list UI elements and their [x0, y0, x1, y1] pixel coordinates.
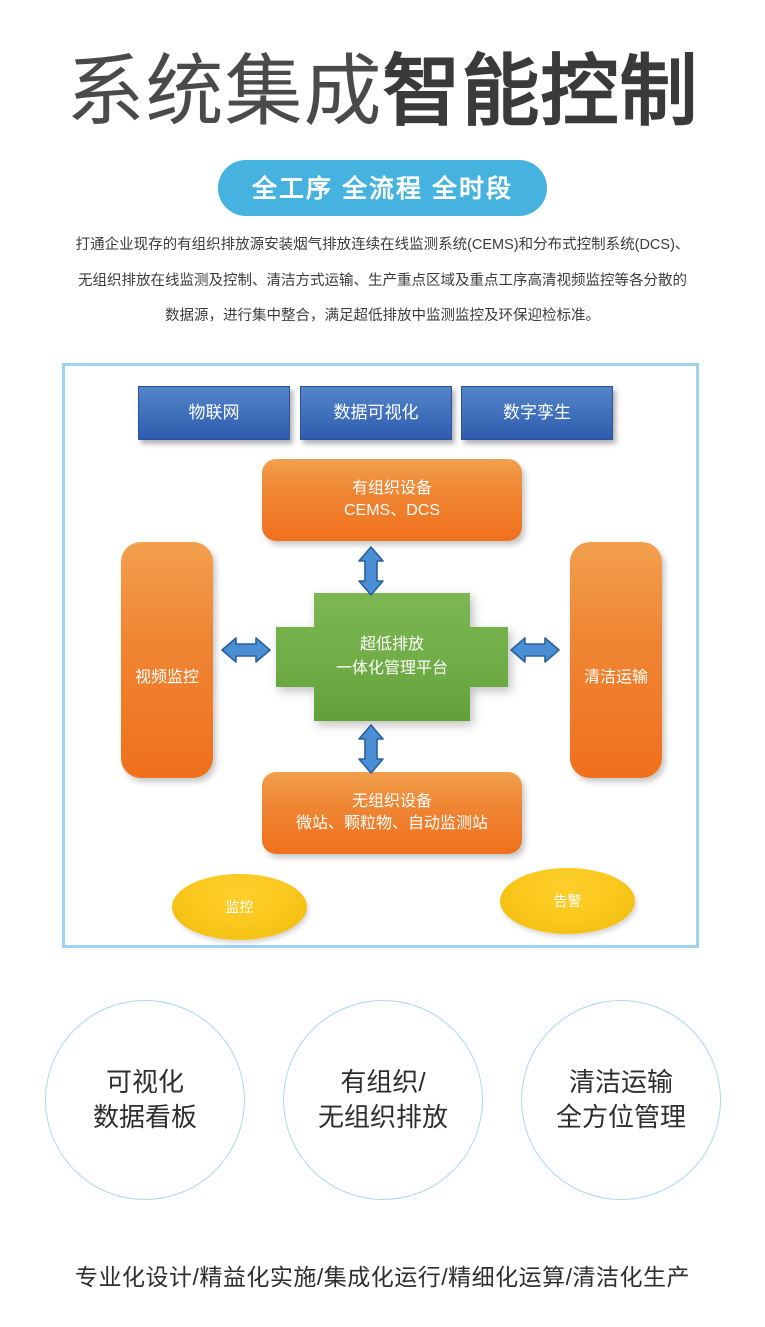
unorganized-equipment-line-2: 微站、颗粒物、自动监测站 — [296, 813, 488, 835]
diagram-node-data-visualization-label: 数据可视化 — [334, 402, 419, 425]
intro-line-1: 打通企业现存的有组织排放源安装烟气排放连续在线监测系统(CEMS)和分布式控制系… — [50, 228, 715, 264]
diagram-node-digital-twin: 数字孪生 — [461, 386, 613, 440]
feature-circle-emissions: 有组织/ 无组织排放 — [283, 1000, 483, 1200]
feature-circle-visualization-line-1: 可视化 — [93, 1065, 197, 1100]
footer-tagline: 专业化设计/精益化实施/集成化运行/精细化运算/清洁化生产 — [0, 1258, 765, 1292]
feature-circle-visualization: 可视化 数据看板 — [45, 1000, 245, 1200]
architecture-diagram: 物联网 数据可视化 数字孪生 有组织设备 CEMS、DCS 视频监控 清洁运输 … — [62, 363, 699, 948]
intro-line-2: 无组织排放在线监测及控制、清洁方式运输、生产重点区域及重点工序高清视频监控等各分… — [50, 264, 715, 300]
double-arrow-vertical-bottom-icon — [357, 724, 385, 779]
diagram-node-unorganized-equipment: 无组织设备 微站、颗粒物、自动监测站 — [262, 772, 522, 854]
scope-badge: 全工序 全流程 全时段 — [218, 160, 547, 216]
video-monitoring-label: 视频监控 — [135, 667, 199, 689]
double-arrow-horizontal-right-icon — [510, 636, 560, 669]
diagram-node-organized-equipment: 有组织设备 CEMS、DCS — [262, 459, 522, 541]
diagram-node-platform-shape — [276, 593, 508, 721]
diagram-node-iot-label: 物联网 — [189, 402, 240, 425]
page-title-bold: 智能控制 — [383, 47, 699, 135]
diagram-node-clean-transport: 清洁运输 — [570, 542, 662, 778]
double-arrow-vertical-top-icon — [357, 546, 385, 601]
page-title: 系统集成智能控制 — [0, 52, 765, 130]
feature-circles: 可视化 数据看板 有组织/ 无组织排放 清洁运输 全方位管理 — [0, 995, 765, 1205]
feature-circle-transport-line-1: 清洁运输 — [556, 1065, 686, 1100]
double-arrow-horizontal-left-icon — [221, 636, 271, 669]
feature-circle-transport: 清洁运输 全方位管理 — [521, 1000, 721, 1200]
organized-equipment-line-1: 有组织设备 — [344, 478, 440, 500]
feature-circle-emissions-line-1: 有组织/ — [318, 1065, 448, 1100]
diagram-node-monitoring: 监控 — [172, 874, 307, 940]
page-title-light: 系统集成 — [66, 47, 382, 135]
diagram-node-video-monitoring: 视频监控 — [121, 542, 213, 778]
monitoring-label: 监控 — [226, 897, 254, 917]
clean-transport-label: 清洁运输 — [584, 667, 648, 689]
intro-line-3: 数据源，进行集中整合，满足超低排放中监测监控及环保迎检标准。 — [50, 299, 715, 335]
intro-paragraph: 打通企业现存的有组织排放源安装烟气排放连续在线监测系统(CEMS)和分布式控制系… — [50, 228, 715, 335]
unorganized-equipment-line-1: 无组织设备 — [296, 791, 488, 813]
feature-circle-visualization-line-2: 数据看板 — [93, 1100, 197, 1135]
diagram-node-iot: 物联网 — [138, 386, 290, 440]
badge-container: 全工序 全流程 全时段 — [0, 160, 765, 216]
diagram-node-alarm: 告警 — [500, 868, 635, 934]
alarm-label: 告警 — [554, 891, 582, 911]
organized-equipment-line-2: CEMS、DCS — [344, 500, 440, 522]
feature-circle-emissions-line-2: 无组织排放 — [318, 1100, 448, 1135]
feature-circle-transport-line-2: 全方位管理 — [556, 1100, 686, 1135]
diagram-node-data-visualization: 数据可视化 — [300, 386, 452, 440]
diagram-node-digital-twin-label: 数字孪生 — [503, 402, 571, 425]
